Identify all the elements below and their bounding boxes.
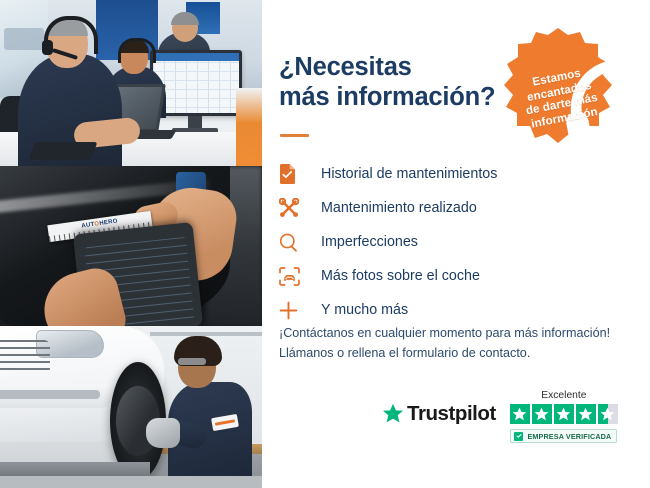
trustpilot-star-rating (510, 404, 618, 424)
feature-item-imperfections: Imperfecciones (279, 225, 629, 259)
help-badge: Estamos encantados de darte más informac… (497, 26, 619, 148)
feature-item-much-more: Y mucho más (279, 293, 629, 327)
trustpilot-rating-block: Excelente (510, 390, 618, 443)
ruler-brand-part1: AUT (81, 222, 95, 230)
trustpilot-wordmark: Trustpilot (407, 402, 496, 426)
contact-info-banner: AUTOHERO (0, 0, 650, 488)
feature-item-maintenance-done: Mantenimiento realizado (279, 191, 629, 225)
feature-label: Y mucho más (309, 302, 408, 318)
feature-label: Historial de mantenimientos (309, 166, 497, 182)
feature-label: Imperfecciones (309, 234, 418, 250)
photo3-bumper-vent (0, 390, 100, 399)
rating-star-1 (510, 404, 530, 424)
magnifier-icon (279, 230, 309, 254)
page-title: ¿Necesitasmás información? (279, 53, 529, 113)
trustpilot-widget[interactable]: Trustpilot Excelente (382, 390, 618, 443)
verified-company-badge: EMPRESA VERIFICADA (510, 429, 617, 443)
rating-star-4 (576, 404, 596, 424)
photo1-agent-two-headset (118, 38, 156, 63)
help-badge-text: Estamos encantados de darte más informac… (497, 26, 619, 148)
photo3-shelf (150, 332, 262, 336)
feature-item-maintenance-history: Historial de mantenimientos (279, 157, 629, 191)
page-title-line-2: más información? (279, 83, 495, 111)
tools-cross-icon (279, 196, 309, 220)
contact-paragraph: ¡Contáctanos en cualquier momento para m… (279, 323, 639, 364)
rating-star-5-half (598, 404, 618, 424)
rating-star-3 (554, 404, 574, 424)
car-inspection-ruler-photo: AUTOHERO (0, 166, 262, 326)
document-check-icon (279, 162, 309, 186)
feature-label: Mantenimiento realizado (309, 200, 477, 216)
photo3-grille (0, 340, 50, 374)
photo3-floor (0, 476, 262, 488)
rating-star-2 (532, 404, 552, 424)
feature-item-more-photos: Más fotos sobre el coche (279, 259, 629, 293)
contact-line-2: Llámanos o rellena el formulario de cont… (279, 346, 530, 360)
photo1-orange-element (236, 88, 262, 166)
trustpilot-logo[interactable]: Trustpilot (382, 402, 496, 426)
mechanic-wheel-photo (0, 326, 262, 488)
photo1-agent-one-earcup (42, 40, 53, 55)
plus-icon (279, 298, 309, 322)
contact-line-1: ¡Contáctanos en cualquier momento para m… (279, 326, 610, 340)
call-centre-agents-photo (0, 0, 262, 166)
photo3-mechanic-glasses (178, 358, 206, 365)
content-panel: ¿Necesitasmás información? Estamos encan… (262, 0, 650, 488)
photo-column: AUTOHERO (0, 0, 262, 488)
title-accent-rule (280, 134, 309, 137)
photo1-tablet (28, 142, 97, 160)
feature-label: Más fotos sobre el coche (309, 268, 480, 284)
trustpilot-rating-word: Excelente (541, 390, 586, 401)
feature-list: Historial de mantenimientos M (279, 157, 629, 327)
verified-check-icon (514, 432, 523, 441)
page-title-line-1: ¿Necesitas (279, 53, 412, 81)
car-scan-icon (279, 264, 309, 288)
trustpilot-star-icon (382, 403, 404, 425)
verified-company-label: EMPRESA VERIFICADA (527, 432, 611, 441)
photo3-glove (146, 418, 180, 448)
